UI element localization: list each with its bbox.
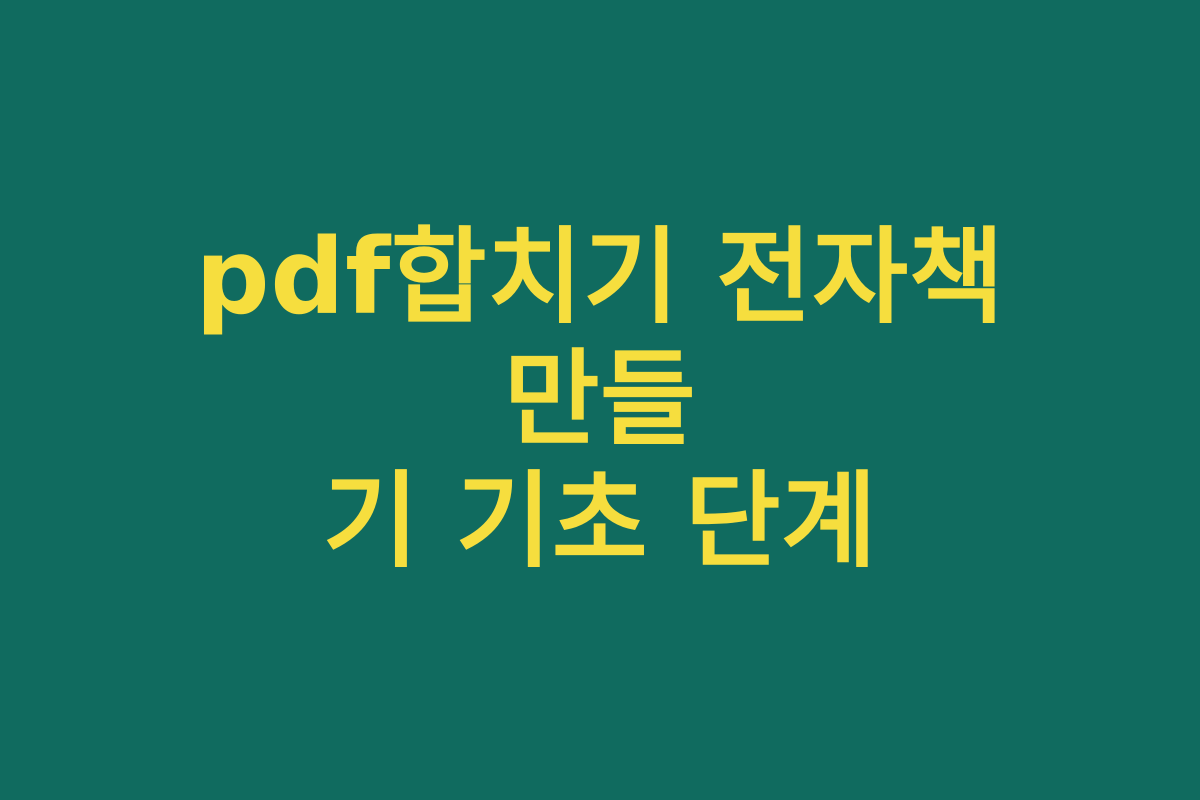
headline-line-2: 기 기초 단계 — [100, 461, 1100, 583]
headline-line-1: pdf합치기 전자책 만들 — [100, 217, 1100, 460]
banner-content: pdf합치기 전자책 만들 기 기초 단계 — [100, 217, 1100, 582]
banner-headline: pdf합치기 전자책 만들 기 기초 단계 — [100, 217, 1100, 582]
banner-background: pdf합치기 전자책 만들 기 기초 단계 — [0, 0, 1200, 800]
